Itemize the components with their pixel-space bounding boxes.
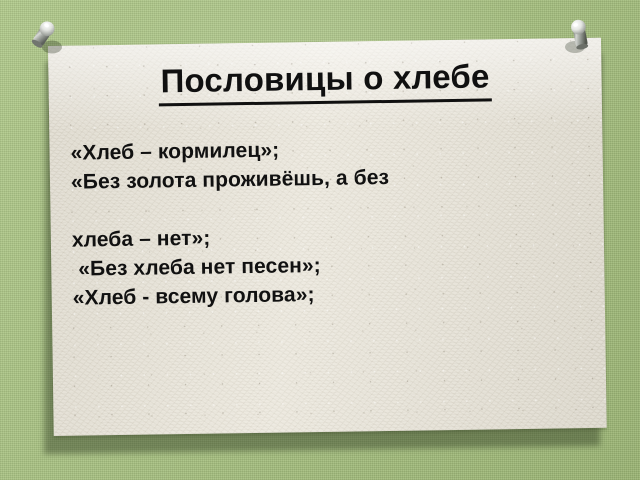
page-title-text: Пословицы о хлебе xyxy=(158,57,492,106)
pushpin-right-icon xyxy=(561,16,595,56)
paper-sheet: Пословицы о хлебе «Хлеб – кормилец»; «Бе… xyxy=(48,38,607,436)
page-title: Пословицы о хлебе xyxy=(48,56,602,108)
paper-content: Пословицы о хлебе «Хлеб – кормилец»; «Бе… xyxy=(48,38,607,436)
proverb-list: «Хлеб – кормилец»; «Без золота проживёшь… xyxy=(70,131,583,313)
slide-canvas: Пословицы о хлебе «Хлеб – кормилец»; «Бе… xyxy=(0,0,640,480)
pushpin-left-icon xyxy=(31,18,65,58)
proverb-line: «Хлеб - всему голова»; xyxy=(73,276,583,313)
